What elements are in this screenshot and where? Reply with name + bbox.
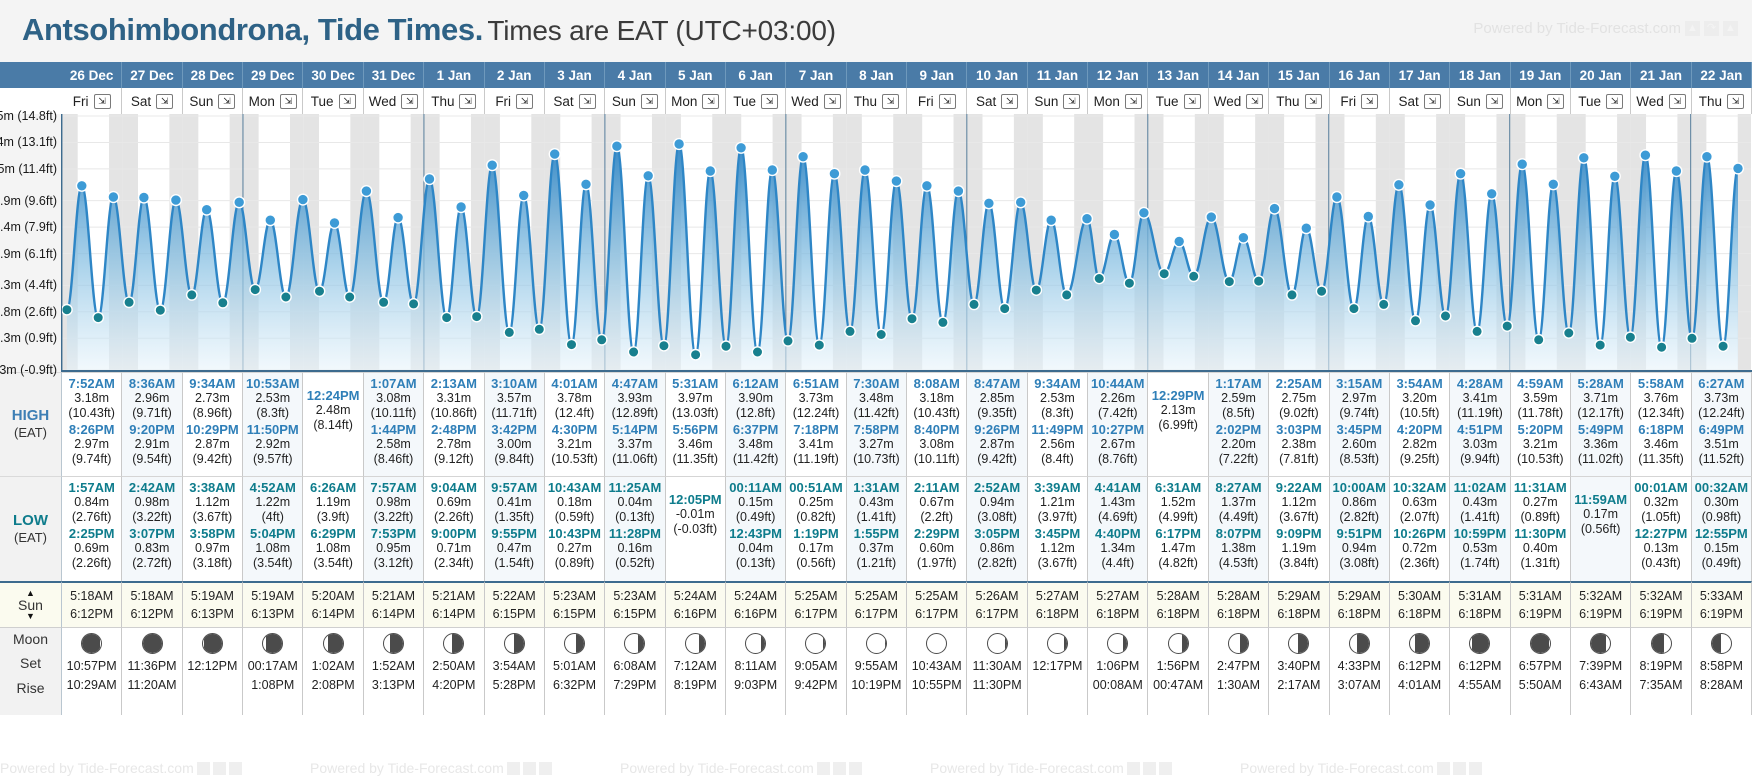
low-tide-event: 11:02AM0.43m(1.41ft) (1451, 480, 1508, 524)
date-header-cell[interactable]: 19 Jan (1511, 62, 1571, 88)
expand-arrows-icon[interactable]: ⇲ (824, 94, 841, 109)
expand-arrows-icon[interactable]: ⇲ (94, 94, 111, 109)
chart-icon (1127, 762, 1140, 775)
low-tide-event: 12:55PM0.15m(0.49ft) (1693, 526, 1750, 570)
high-tide-point (581, 179, 592, 190)
low-tide-event: 7:53PM0.95m(3.12ft) (365, 526, 422, 570)
expand-arrows-icon[interactable]: ⇲ (156, 94, 173, 109)
tide-height-m: 3.93m (606, 391, 663, 406)
high-tide-point (705, 166, 716, 177)
moon-rise-time: 4:01AM (1398, 676, 1441, 695)
tide-height-ft: (2.07ft) (1391, 510, 1448, 525)
tide-time: 11:25AM (606, 480, 663, 495)
tide-height-m: 1.19m (1270, 541, 1327, 556)
weekday-label: Fri (495, 94, 511, 109)
date-label: 16 Jan (1338, 68, 1380, 83)
moon-phase-icon (323, 633, 344, 654)
date-header-cell[interactable]: 1 Jan (424, 62, 484, 88)
tide-time: 4:20PM (1391, 422, 1448, 437)
expand-arrows-icon[interactable]: ⇲ (1486, 94, 1503, 109)
date-label: 21 Jan (1640, 68, 1682, 83)
tide-height-m: 2.96m (123, 391, 180, 406)
sunrise-time: 5:31AM (1519, 587, 1562, 605)
high-tide-point (549, 149, 560, 160)
moon-set-time: 00:17AM (248, 657, 298, 676)
moon-set-time: 6:12PM (1398, 657, 1441, 676)
weekday-cell: Sun⇲ (1028, 88, 1088, 114)
tide-height-ft: (2.82ft) (1331, 510, 1388, 525)
sun-cell: 5:26AM6:17PM (967, 581, 1027, 627)
tide-time: 4:52AM (244, 480, 301, 495)
moon-set-time: 11:36PM (127, 657, 176, 676)
tide-height-m: 2.67m (1089, 437, 1146, 452)
tide-forecast-page: Antsohimbondrona, Tide Times. Times are … (0, 0, 1752, 780)
date-header-cell[interactable]: 28 Dec (183, 62, 243, 88)
moon-cell: 11:36PM11:20AM (122, 627, 182, 715)
date-label: 28 Dec (191, 68, 235, 83)
low-tide-cell: 1:57AM0.84m(2.76ft)2:25PM0.69m(2.26ft) (62, 476, 122, 581)
tide-height-m: 0.41m (486, 495, 543, 510)
tide-height-ft: (8.96ft) (184, 406, 241, 421)
tide-time: 10:29PM (184, 422, 241, 437)
high-tide-point (1269, 203, 1280, 214)
high-tide-cell: 6:27AM3.73m(12.24ft)6:49PM3.51m(11.52ft) (1692, 372, 1752, 476)
tide-time: 10:44AM (1089, 376, 1146, 391)
weekday-cell: Thu⇲ (1269, 88, 1329, 114)
high-tide-point (798, 151, 809, 162)
y-axis-tick: 3.5m (11.4ft) (0, 162, 57, 176)
date-header-cell[interactable]: 22 Jan (1692, 62, 1752, 88)
expand-arrows-icon[interactable]: ⇲ (1063, 94, 1080, 109)
low-tide-event: 11:25AM0.04m(0.13ft) (606, 480, 663, 524)
low-tide-cell: 9:22AM1.12m(3.67ft)9:09PM1.19m(3.84ft) (1269, 476, 1329, 581)
moon-set-time: 9:55AM (855, 657, 898, 676)
moon-rise-time: 2:08PM (312, 676, 355, 695)
tide-time: 11:31AM (1512, 480, 1569, 495)
date-header-cell[interactable]: 26 Dec (62, 62, 122, 88)
date-header-cell[interactable]: 7 Jan (786, 62, 846, 88)
tide-height-ft: (0.13ft) (727, 556, 784, 571)
tide-height-ft: (9.84ft) (486, 452, 543, 467)
low-tide-event: 2:52AM0.94m(3.08ft) (968, 480, 1025, 524)
low-tide-event: 1:19PM0.17m(0.56ft) (787, 526, 844, 570)
expand-arrows-icon[interactable]: ⇲ (401, 94, 418, 109)
high-tide-cell: 7:30AM3.48m(11.42ft)7:58PM3.27m(10.73ft) (847, 372, 907, 476)
high-tide-tz: (EAT) (14, 425, 47, 442)
moon-cell: 11:30AM11:30PM (967, 627, 1027, 715)
high-tide-event: 5:56PM3.46m(11.35ft) (667, 422, 724, 466)
tide-height-m: 0.43m (848, 495, 905, 510)
page-title: Antsohimbondrona, Tide Times. (22, 12, 483, 47)
weekday-cell: Tue⇲ (1148, 88, 1208, 114)
date-header-cell[interactable]: 14 Jan (1209, 62, 1269, 88)
low-tide-event: 4:40PM1.34m(4.4ft) (1089, 526, 1146, 570)
tide-time: 5:04PM (244, 526, 301, 541)
moon-set-time: 1:06PM (1096, 657, 1139, 676)
tide-time: 3:15AM (1331, 376, 1388, 391)
date-header-cell[interactable]: 16 Jan (1330, 62, 1390, 88)
tide-height-ft: (11.19ft) (787, 452, 844, 467)
low-tide-cell: 6:26AM1.19m(3.9ft)6:29PM1.08m(3.54ft) (303, 476, 363, 581)
expand-arrows-icon[interactable]: ⇲ (1361, 94, 1378, 109)
date-header-cell[interactable]: 5 Jan (666, 62, 726, 88)
date-label: 26 Dec (70, 68, 114, 83)
tide-chart[interactable] (62, 114, 1752, 372)
weekday-cell: Tue⇲ (1571, 88, 1631, 114)
tide-icon (229, 762, 242, 775)
date-label: 15 Jan (1278, 68, 1320, 83)
tide-time: 1:31AM (848, 480, 905, 495)
low-tide-event: 9:55PM0.47m(1.54ft) (486, 526, 543, 570)
tide-height-ft: (4.49ft) (1210, 510, 1267, 525)
sunset-time: 6:15PM (613, 605, 656, 623)
tide-time: 2:25PM (63, 526, 120, 541)
moon-cell: 1:56PM00:47AM (1148, 627, 1208, 715)
tide-height-ft: (11.52ft) (1693, 452, 1750, 467)
tide-height-m: 2.48m (304, 403, 361, 418)
tide-height-ft: (0.49ft) (727, 510, 784, 525)
sunset-time: 6:17PM (855, 605, 898, 623)
low-tide-event: 6:26AM1.19m(3.9ft) (304, 480, 361, 524)
expand-arrows-icon[interactable]: ⇲ (1246, 94, 1263, 109)
expand-arrows-icon[interactable]: ⇲ (761, 94, 778, 109)
tide-time: 00:11AM (727, 480, 784, 495)
refresh-icon (1143, 762, 1156, 775)
tide-height-ft: (10.53ft) (1512, 452, 1569, 467)
sunrise-time: 5:18AM (70, 587, 113, 605)
moon-cell: 8:11AM9:03PM (726, 627, 786, 715)
moon-cell: 2:50AM4:20PM (424, 627, 484, 715)
chart-y-axis: 4.5m (14.8ft)4m (13.1ft)3.5m (11.4ft)2.9… (0, 114, 62, 372)
date-header-cell[interactable]: 30 Dec (303, 62, 363, 88)
tide-height-ft: (7.81ft) (1270, 452, 1327, 467)
expand-arrows-icon[interactable]: ⇲ (579, 94, 596, 109)
tide-height-ft: (4.82ft) (1149, 556, 1206, 571)
weekday-cell: Thu⇲ (847, 88, 907, 114)
high-tide-event: 11:50PM2.92m(9.57ft) (244, 422, 301, 466)
expand-arrows-icon[interactable]: ⇲ (1669, 94, 1686, 109)
low-tide-point (1287, 290, 1297, 300)
low-tide-cell: 7:57AM0.98m(3.22ft)7:53PM0.95m(3.12ft) (364, 476, 424, 581)
high-tide-event: 7:30AM3.48m(11.42ft) (848, 376, 905, 420)
low-tide-point (1316, 286, 1326, 296)
weekday-label: Sat (976, 94, 996, 109)
date-header-cell[interactable]: 9 Jan (907, 62, 967, 88)
sunrise-time: 5:29AM (1338, 587, 1381, 605)
tide-height-ft: (0.13ft) (606, 510, 663, 525)
tide-height-m: 3.03m (1451, 437, 1508, 452)
tide-icon (1469, 762, 1482, 775)
date-label: 1 Jan (437, 68, 472, 83)
high-tide-point (1332, 192, 1343, 203)
tide-height-m: 1.19m (304, 495, 361, 510)
moon-rise-time: 12:12PM (187, 657, 237, 676)
tide-height-m: 3.48m (848, 391, 905, 406)
weekday-cell: Mon⇲ (243, 88, 303, 114)
high-tide-cell: 5:28AM3.71m(12.17ft)5:49PM3.36m(11.02ft) (1571, 372, 1631, 476)
weekday-cell: Sat⇲ (967, 88, 1027, 114)
low-tide-cell: 2:11AM0.67m(2.2ft)2:29PM0.60m(1.97ft) (907, 476, 967, 581)
tide-height-ft: (4.53ft) (1210, 556, 1267, 571)
tide-height-m: 3.76m (1632, 391, 1689, 406)
high-tide-event: 10:27PM2.67m(8.76ft) (1089, 422, 1146, 466)
date-header-cell[interactable]: 3 Jan (545, 62, 605, 88)
expand-arrows-icon[interactable]: ⇲ (280, 94, 297, 109)
weekday-cell: Tue⇲ (303, 88, 363, 114)
high-tide-point (1548, 179, 1559, 190)
expand-arrows-icon[interactable]: ⇲ (218, 94, 235, 109)
tide-height-m: 0.30m (1693, 495, 1750, 510)
tide-table: 26 Dec27 Dec28 Dec29 Dec30 Dec31 Dec1 Ja… (0, 62, 1752, 780)
moon-cell: 12:17PM (1028, 627, 1088, 715)
tide-height-m: 0.32m (1632, 495, 1689, 510)
expand-arrows-icon[interactable]: ⇲ (702, 94, 719, 109)
tide-height-ft: (12.4ft) (546, 406, 603, 421)
date-header-cell[interactable]: 20 Jan (1571, 62, 1631, 88)
refresh-icon (1453, 762, 1466, 775)
expand-arrows-icon[interactable]: ⇲ (882, 94, 899, 109)
y-axis-tick: 4m (13.1ft) (0, 135, 57, 149)
moon-set-time: 10:57PM (67, 657, 117, 676)
date-label: 8 Jan (859, 68, 894, 83)
tide-height-ft: (4.4ft) (1089, 556, 1146, 571)
high-tide-cell: 10:53AM2.53m(8.3ft)11:50PM2.92m(9.57ft) (243, 372, 303, 476)
high-tide-event: 2:13AM3.31m(10.86ft) (425, 376, 482, 420)
moon-rise-time: 3:13PM (372, 676, 415, 695)
low-tide-point (1031, 285, 1041, 295)
tide-time: 3:58PM (184, 526, 241, 541)
tide-height-ft: (9.42ft) (968, 452, 1025, 467)
high-tide-point (612, 141, 623, 152)
expand-arrows-icon[interactable]: ⇲ (1606, 94, 1623, 109)
expand-arrows-icon[interactable]: ⇲ (1547, 94, 1564, 109)
tide-time: 3:38AM (184, 480, 241, 495)
date-header-cell[interactable]: 15 Jan (1269, 62, 1329, 88)
date-header-cell[interactable]: 31 Dec (364, 62, 424, 88)
refresh-icon (523, 762, 536, 775)
high-tide-event: 7:18PM3.41m(11.19ft) (787, 422, 844, 466)
low-tide-point (1124, 278, 1134, 288)
moon-set-time: 1:52AM (372, 657, 415, 676)
low-tide-event: 6:31AM1.52m(4.99ft) (1149, 480, 1206, 524)
tide-height-ft: (3.67ft) (1270, 510, 1327, 525)
high-tide-event: 3:45PM2.60m(8.53ft) (1331, 422, 1388, 466)
moon-set-time: 2:47PM (1217, 657, 1260, 676)
high-tide-point (767, 165, 778, 176)
high-tide-cell: 3:10AM3.57m(11.71ft)3:42PM3.00m(9.84ft) (485, 372, 545, 476)
low-tide-cell: 4:52AM1.22m(4ft)5:04PM1.08m(3.54ft) (243, 476, 303, 581)
low-tide-point (281, 292, 291, 302)
moon-rise-time: 6:32PM (553, 676, 596, 695)
expand-arrows-icon[interactable]: ⇲ (1184, 94, 1201, 109)
sunset-time: 6:17PM (794, 605, 837, 623)
tide-time: 7:30AM (848, 376, 905, 391)
date-header-cell[interactable]: 4 Jan (605, 62, 665, 88)
high-tide-point (108, 192, 119, 203)
high-tide-cell: 7:52AM3.18m(10.43ft)8:26PM2.97m(9.74ft) (62, 372, 122, 476)
tide-height-m: 3.41m (1451, 391, 1508, 406)
low-tide-event: 3:07PM0.83m(2.72ft) (123, 526, 180, 570)
tide-height-ft: (10.43ft) (908, 406, 965, 421)
expand-arrows-icon[interactable]: ⇲ (1727, 94, 1744, 109)
date-header-cell[interactable]: 21 Jan (1631, 62, 1691, 88)
low-tide-point (1410, 316, 1420, 326)
low-tide-cell: 2:42AM0.98m(3.22ft)3:07PM0.83m(2.72ft) (122, 476, 182, 581)
high-tide-event: 4:20PM2.82m(9.25ft) (1391, 422, 1448, 466)
expand-arrows-icon[interactable]: ⇲ (459, 94, 476, 109)
watermark-text: Powered by Tide-Forecast.com (310, 760, 504, 776)
low-tide-cell: 11:25AM0.04m(0.13ft)11:28PM0.16m(0.52ft) (605, 476, 665, 581)
date-header-cell[interactable]: 12 Jan (1088, 62, 1148, 88)
high-tide-cell: 1:17AM2.59m(8.5ft)2:02PM2.20m(7.22ft) (1209, 372, 1269, 476)
date-label: 20 Jan (1580, 68, 1622, 83)
date-header-cell[interactable]: 13 Jan (1148, 62, 1208, 88)
low-tide-cell: 10:32AM0.63m(2.07ft)10:26PM0.72m(2.36ft) (1390, 476, 1450, 581)
tide-height-ft: (2.36ft) (1391, 556, 1448, 571)
moon-cell: 3:54AM5:28PM (485, 627, 545, 715)
low-tide-event: 11:31AM0.27m(0.89ft) (1512, 480, 1569, 524)
tide-time: 4:47AM (606, 376, 663, 391)
high-tide-event: 5:14PM3.37m(11.06ft) (606, 422, 663, 466)
low-tide-point (1159, 269, 1169, 279)
date-header-cell[interactable]: 29 Dec (243, 62, 303, 88)
tide-time: 8:26PM (63, 422, 120, 437)
low-tide-event: 1:31AM0.43m(1.41ft) (848, 480, 905, 524)
expand-arrows-icon[interactable]: ⇲ (1305, 94, 1322, 109)
tide-height-ft: (10.53ft) (546, 452, 603, 467)
high-tide-event: 5:49PM3.36m(11.02ft) (1572, 422, 1629, 466)
sun-cell: 5:30AM6:18PM (1390, 581, 1450, 627)
tide-height-m: 3.31m (425, 391, 482, 406)
moon-phase-icon (202, 633, 223, 654)
tide-height-ft: (4ft) (244, 510, 301, 525)
sunrise-time: 5:25AM (794, 587, 837, 605)
moon-phase-icon (926, 633, 947, 654)
tide-height-ft: (2.72ft) (123, 556, 180, 571)
tide-height-m: 2.13m (1149, 403, 1206, 418)
date-header-cell[interactable]: 17 Jan (1390, 62, 1450, 88)
low-tide-cell: 10:00AM0.86m(2.82ft)9:51PM0.94m(3.08ft) (1330, 476, 1390, 581)
moon-phase-icon (443, 633, 464, 654)
moon-phase-icon (745, 633, 766, 654)
high-tide-event: 7:52AM3.18m(10.43ft) (63, 376, 120, 420)
date-label: 5 Jan (678, 68, 713, 83)
high-tide-event: 2:48PM2.78m(9.12ft) (425, 422, 482, 466)
high-tide-point (1702, 151, 1713, 162)
tide-height-ft: (12.34ft) (1632, 406, 1689, 421)
tide-height-m: 3.46m (667, 437, 724, 452)
tide-height-m: 3.37m (606, 437, 663, 452)
tide-height-ft: (2.82ft) (968, 556, 1025, 571)
weekday-label: Fri (918, 94, 934, 109)
weekday-label: Thu (1276, 94, 1299, 109)
tide-time: 9:09PM (1270, 526, 1327, 541)
tide-height-ft: (3.12ft) (365, 556, 422, 571)
sun-cell: 5:33AM6:19PM (1692, 581, 1752, 627)
date-label: 4 Jan (618, 68, 653, 83)
tide-height-ft: (8.76ft) (1089, 452, 1146, 467)
high-tide-event: 4:59AM3.59m(11.78ft) (1512, 376, 1569, 420)
date-header-cell[interactable]: 8 Jan (847, 62, 907, 88)
low-tide-event: 3:58PM0.97m(3.18ft) (184, 526, 241, 570)
low-tide-event: 8:07PM1.38m(4.53ft) (1210, 526, 1267, 570)
low-tide-point (1062, 290, 1072, 300)
sunset-time: 6:15PM (553, 605, 596, 623)
moon-set-time: 8:58PM (1700, 657, 1743, 676)
weekday-cell: Sat⇲ (545, 88, 605, 114)
tide-height-ft: (0.89ft) (1512, 510, 1569, 525)
tide-height-ft: (11.02ft) (1572, 452, 1629, 467)
low-tide-row: LOW (EAT) 1:57AM0.84m(2.76ft)2:25PM0.69m… (0, 476, 1752, 581)
tide-time: 6:12AM (727, 376, 784, 391)
expand-arrows-icon[interactable]: ⇲ (939, 94, 956, 109)
tide-height-m: 3.59m (1512, 391, 1569, 406)
date-label: 22 Jan (1700, 68, 1742, 83)
date-header-cell[interactable]: 27 Dec (122, 62, 182, 88)
moon-cell: 9:05AM9:42PM (786, 627, 846, 715)
high-tide-cell: 5:31AM3.97m(13.03ft)5:56PM3.46m(11.35ft) (666, 372, 726, 476)
moon-cell: 2:47PM1:30AM (1209, 627, 1269, 715)
expand-arrows-icon[interactable]: ⇲ (641, 94, 658, 109)
y-axis-tick: -0.3m (-0.9ft) (0, 363, 57, 377)
tide-time: 10:43AM (546, 480, 603, 495)
tide-height-ft: (13.03ft) (667, 406, 724, 421)
sun-cell: 5:32AM6:19PM (1571, 581, 1631, 627)
moon-phase-icon (1047, 633, 1068, 654)
sunset-time: 6:15PM (493, 605, 536, 623)
low-tide-point (721, 341, 731, 351)
tide-time: 8:07PM (1210, 526, 1267, 541)
low-tide-event: 2:42AM0.98m(3.22ft) (123, 480, 180, 524)
high-tide-cell: 10:44AM2.26m(7.42ft)10:27PM2.67m(8.76ft) (1088, 372, 1148, 476)
sunset-time: 6:16PM (734, 605, 777, 623)
date-header-cell[interactable]: 18 Jan (1450, 62, 1510, 88)
chart-icon (817, 762, 830, 775)
sunrise-time: 5:27AM (1096, 587, 1139, 605)
high-tide-point (1301, 223, 1312, 234)
low-tide-cell: 3:39AM1.21m(3.97ft)3:45PM1.12m(3.67ft) (1028, 476, 1088, 581)
sunset-time: 6:18PM (1157, 605, 1200, 623)
moon-phase-icon (805, 633, 826, 654)
moon-set-time: 7:12AM (674, 657, 717, 676)
low-tide-point (1625, 332, 1635, 342)
tide-height-m: 0.98m (365, 495, 422, 510)
tide-time: 3:10AM (486, 376, 543, 391)
tide-time: 3:03PM (1270, 422, 1327, 437)
sun-cell: 5:27AM6:18PM (1088, 581, 1148, 627)
expand-arrows-icon[interactable]: ⇲ (1001, 94, 1018, 109)
expand-arrows-icon[interactable]: ⇲ (516, 94, 533, 109)
expand-arrows-icon[interactable]: ⇲ (1424, 94, 1441, 109)
weekday-cell: Mon⇲ (666, 88, 726, 114)
date-header-cell[interactable]: 11 Jan (1028, 62, 1088, 88)
tide-time: 6:27AM (1693, 376, 1750, 391)
weekday-label: Sun (1034, 94, 1058, 109)
expand-arrows-icon[interactable]: ⇲ (339, 94, 356, 109)
date-header-cell[interactable]: 6 Jan (726, 62, 786, 88)
high-tide-point (298, 194, 309, 205)
expand-arrows-icon[interactable]: ⇲ (1125, 94, 1142, 109)
date-header-cell[interactable]: 10 Jan (967, 62, 1027, 88)
tide-height-m: 0.15m (727, 495, 784, 510)
date-label: 29 Dec (251, 68, 295, 83)
high-tide-point (1109, 229, 1120, 240)
high-tide-point (1455, 168, 1466, 179)
sun-cell: 5:23AM6:15PM (605, 581, 665, 627)
date-header-cell[interactable]: 2 Jan (485, 62, 545, 88)
low-tide-point (93, 312, 103, 322)
tide-time: 2:48PM (425, 422, 482, 437)
